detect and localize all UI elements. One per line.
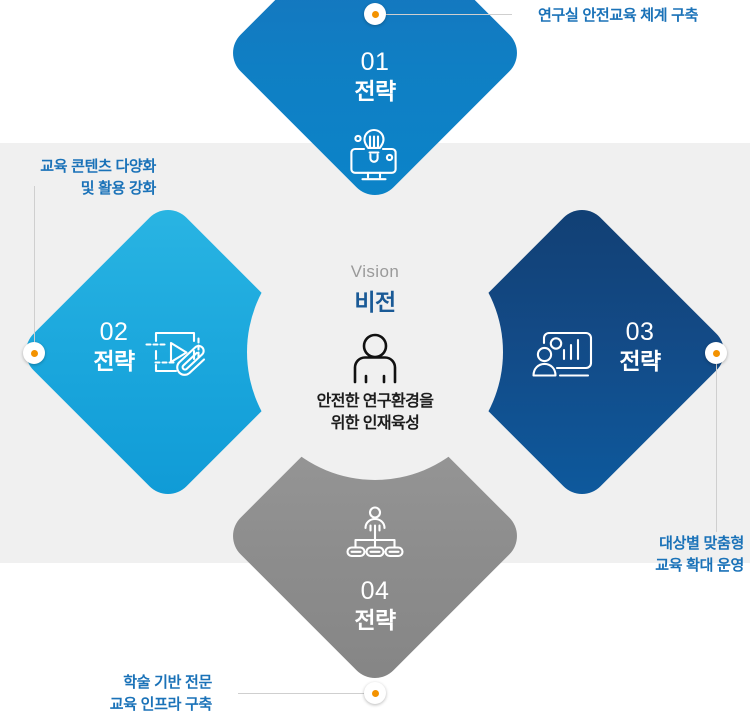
monitor-lightbulb-icon	[285, 124, 465, 186]
person-icon	[350, 333, 400, 385]
caption-04-line1: 학술 기반 전문	[50, 672, 212, 694]
strategy-card-01-content: 01 전략	[285, 48, 465, 186]
strategy-word-01: 전략	[285, 77, 465, 106]
strategy-number-03: 03	[594, 318, 686, 347]
vision-statement-line1: 안전한 연구환경을	[317, 391, 434, 413]
caption-02-line2: 및 활용 강화	[0, 178, 156, 200]
connector-dot-03[interactable]	[705, 342, 727, 364]
strategy-word-03: 전략	[594, 347, 686, 376]
connector-line-04	[238, 693, 364, 694]
presenter-chart-icon	[531, 327, 595, 390]
caption-03-line2: 교육 확대 운영	[580, 555, 744, 577]
caption-01: 연구실 안전교육 체계 구축	[538, 5, 698, 27]
strategy-card-03-content: 03 전략	[594, 318, 686, 376]
vision-label-en: Vision	[351, 262, 399, 282]
caption-02-line1: 교육 콘텐츠 다양화	[0, 156, 156, 178]
strategy-word-04: 전략	[285, 606, 465, 635]
org-chart-icon	[285, 505, 465, 561]
connector-line-02	[34, 186, 35, 356]
caption-03: 대상별 맞춤형 교육 확대 운영	[580, 533, 744, 577]
caption-04-line2: 교육 인프라 구축	[50, 694, 212, 716]
vision-statement: 안전한 연구환경을 위한 인재육성	[317, 391, 434, 434]
caption-02: 교육 콘텐츠 다양화 및 활용 강화	[0, 156, 156, 200]
strategy-number-04: 04	[285, 577, 465, 606]
connector-dot-02[interactable]	[23, 342, 45, 364]
caption-03-line1: 대상별 맞춤형	[580, 533, 744, 555]
strategy-card-04-content: 04 전략	[285, 505, 465, 635]
caption-04: 학술 기반 전문 교육 인프라 구축	[50, 672, 212, 716]
vision-circle[interactable]: Vision 비전 안전한 연구환경을 위한 인재육성	[247, 224, 503, 480]
vision-label-ko: 비전	[354, 283, 395, 317]
connector-dot-04[interactable]	[364, 682, 386, 704]
vision-statement-line2: 위한 인재육성	[317, 413, 434, 435]
connector-dot-01[interactable]	[364, 3, 386, 25]
strategy-number-01: 01	[285, 48, 465, 77]
strategy-diagram: 01 전략 연구실 안전교육 체계 구축 02 전략	[0, 0, 750, 720]
caption-01-line1: 연구실 안전교육 체계 구축	[538, 5, 698, 27]
connector-line-01	[386, 14, 512, 15]
video-attachment-icon	[143, 324, 213, 391]
connector-line-03	[716, 364, 717, 532]
